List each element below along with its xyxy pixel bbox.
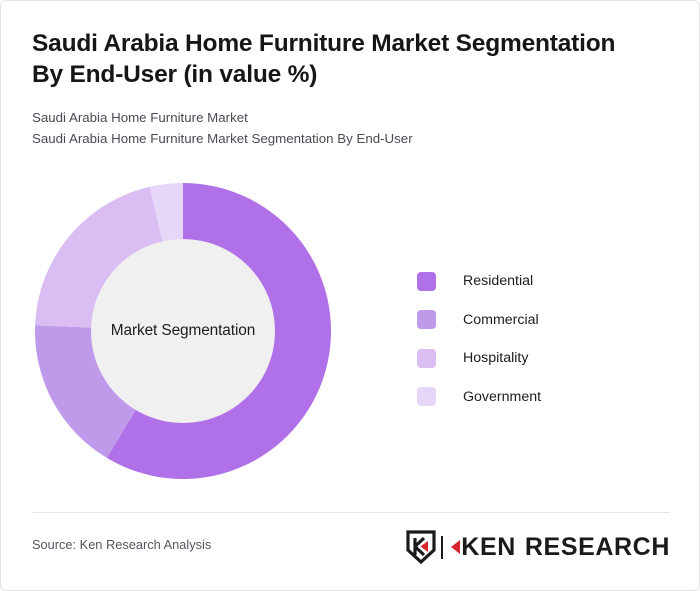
brand-logo: KEN RESEARCH	[406, 529, 670, 565]
ken-research-shield-icon	[406, 530, 436, 564]
chart-subtitle-primary: Saudi Arabia Home Furniture Market	[32, 107, 652, 128]
legend-item-label: Commercial	[463, 312, 539, 328]
chart-subtitles: Saudi Arabia Home Furniture Market Saudi…	[32, 107, 652, 149]
donut-chart: Market Segmentation	[35, 183, 331, 479]
legend-swatch-icon	[417, 387, 436, 406]
legend-swatch-icon	[417, 310, 436, 329]
source-text: Source: Ken Research Analysis	[32, 537, 211, 552]
brand-word-research: RESEARCH	[525, 535, 670, 560]
brand-red-arrow-icon	[450, 538, 461, 556]
legend-item-label: Residential	[463, 273, 533, 289]
chart-footer: Source: Ken Research Analysis KEN RESEAR…	[32, 529, 670, 569]
legend-swatch-icon	[417, 272, 436, 291]
legend-item-residential[interactable]: Residential	[417, 262, 541, 301]
chart-header: Saudi Arabia Home Furniture Market Segme…	[32, 29, 652, 149]
brand-word-ken: KEN	[461, 535, 516, 560]
legend-item-label: Government	[463, 389, 541, 405]
footer-divider	[32, 512, 670, 513]
legend-item-hospitality[interactable]: Hospitality	[417, 339, 541, 378]
donut-hole	[91, 239, 275, 423]
brand-separator	[441, 536, 443, 559]
donut-svg	[35, 183, 331, 479]
legend-item-label: Hospitality	[463, 350, 528, 366]
legend-item-commercial[interactable]: Commercial	[417, 301, 541, 340]
page-title: Saudi Arabia Home Furniture Market Segme…	[32, 29, 652, 91]
chart-plot-area: Market Segmentation Residential Commerci…	[1, 169, 700, 499]
chart-card: Saudi Arabia Home Furniture Market Segme…	[0, 0, 700, 591]
brand-wordmark: KEN RESEARCH	[450, 535, 670, 560]
chart-legend: Residential Commercial Hospitality Gover…	[417, 262, 541, 416]
legend-swatch-icon	[417, 349, 436, 368]
legend-item-government[interactable]: Government	[417, 378, 541, 417]
chart-subtitle-secondary: Saudi Arabia Home Furniture Market Segme…	[32, 128, 652, 149]
